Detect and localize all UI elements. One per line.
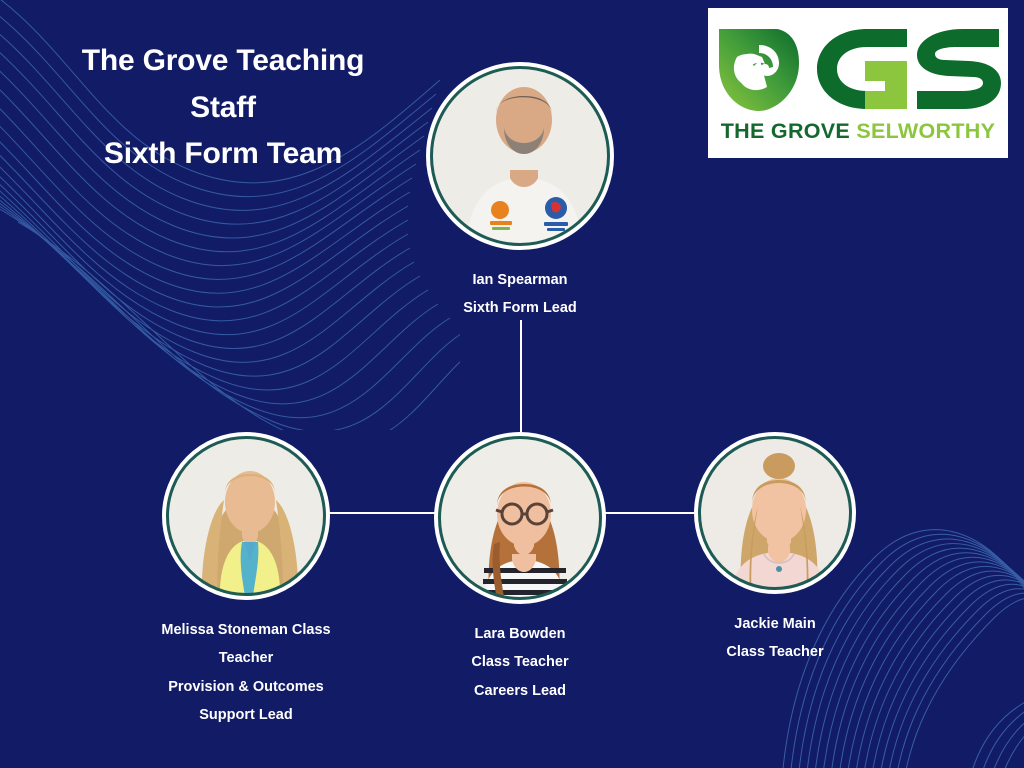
caption-member-2: Jackie Main Class Teacher [726,610,823,667]
logo-wordmark: THE GROVE SELWORTHY [721,119,995,144]
org-node-member-2: Jackie Main Class Teacher [694,432,856,667]
person-name-member-0: Melissa Stoneman Class [161,616,330,644]
page-title-line-2: Staff [18,85,428,132]
person-role-member-0-2: Support Lead [161,701,330,729]
portrait-photo-lead [426,62,614,250]
person-role-member-1-1: Careers Lead [471,677,568,705]
caption-member-0: Melissa Stoneman Class Teacher Provision… [161,616,330,729]
person-role-member-1-0: Class Teacher [471,648,568,676]
org-node-member-1: Lara Bowden Class Teacher Careers Lead [430,432,610,705]
logo-wordmark-light: SELWORTHY [856,119,995,143]
person-name-member-1: Lara Bowden [471,620,568,648]
person-name-lead: Ian Spearman [463,266,577,294]
page-title-line-1: The Grove Teaching [18,38,428,85]
logo-wordmark-dark: THE GROVE [721,119,850,143]
portrait-photo-member-0 [162,432,330,600]
person-role-lead-0: Sixth Form Lead [463,294,577,322]
grove-swirl-emblem-icon [713,23,809,115]
school-logo: THE GROVE SELWORTHY [708,8,1008,158]
portrait-photo-member-1 [434,432,606,604]
org-node-lead: Ian Spearman Sixth Form Lead [412,62,628,323]
person-role-member-0-0: Teacher [161,644,330,672]
page-title: The Grove Teaching Staff Sixth Form Team [18,38,428,178]
person-name-member-2: Jackie Main [726,610,823,638]
person-role-member-2-0: Class Teacher [726,638,823,666]
connector-center-to-right [602,512,698,514]
portrait-photo-member-2 [694,432,856,594]
org-node-member-0: Melissa Stoneman Class Teacher Provision… [140,432,352,729]
caption-member-1: Lara Bowden Class Teacher Careers Lead [471,620,568,705]
org-chart-slide: The Grove Teaching Staff Sixth Form Team [0,0,1024,768]
person-role-member-0-1: Provision & Outcomes [161,673,330,701]
caption-lead: Ian Spearman Sixth Form Lead [463,266,577,323]
page-title-line-3: Sixth Form Team [18,131,428,178]
logo-marks [713,21,1003,117]
connector-lead-to-team [520,320,522,434]
gs-monogram-icon [813,23,1003,115]
